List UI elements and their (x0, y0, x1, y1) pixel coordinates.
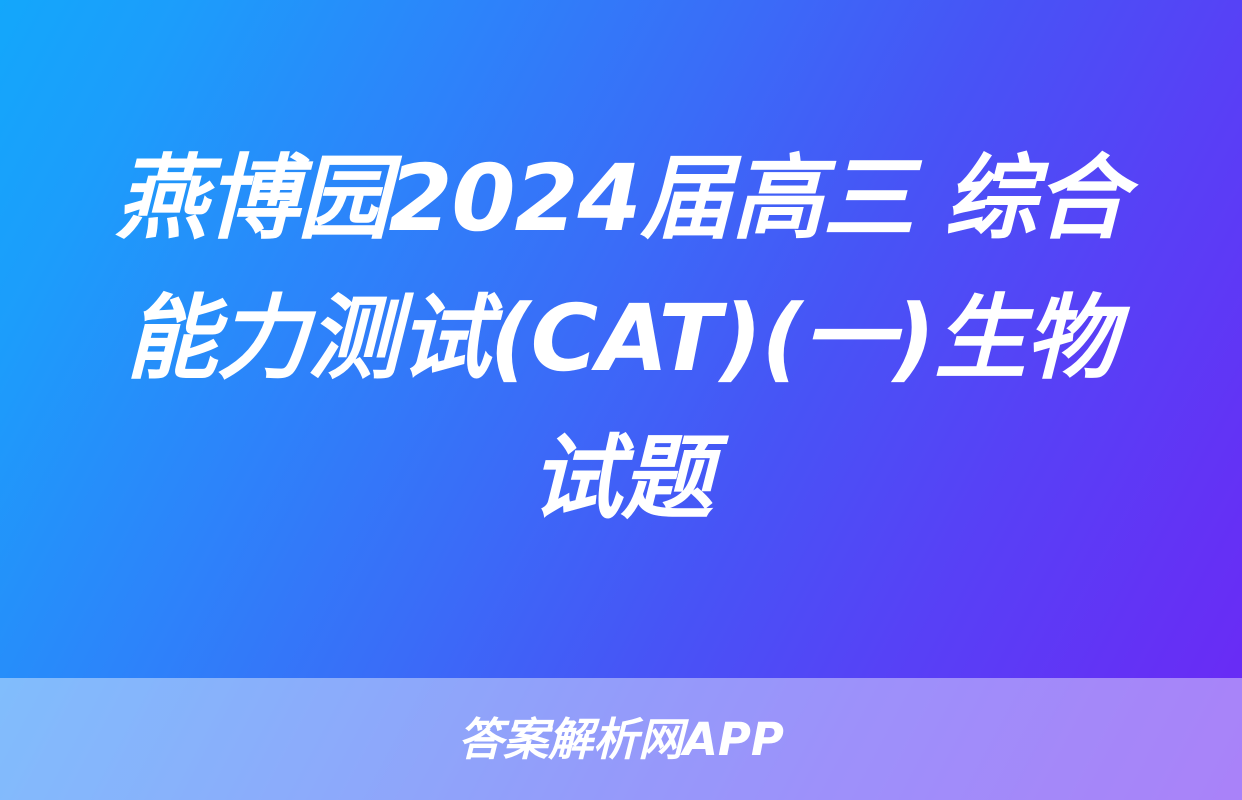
title-block: 燕博园2024届高三 综合 能力测试(CAT)(一)生物 试题 (0, 0, 1242, 678)
watermark-text: 答案解析网APP (458, 717, 784, 762)
watermark-band: 答案解析网APP (0, 678, 1242, 800)
poster-canvas: 燕博园2024届高三 综合 能力测试(CAT)(一)生物 试题 答案解析网APP (0, 0, 1242, 800)
poster-title: 燕博园2024届高三 综合 能力测试(CAT)(一)生物 试题 (46, 129, 1196, 548)
